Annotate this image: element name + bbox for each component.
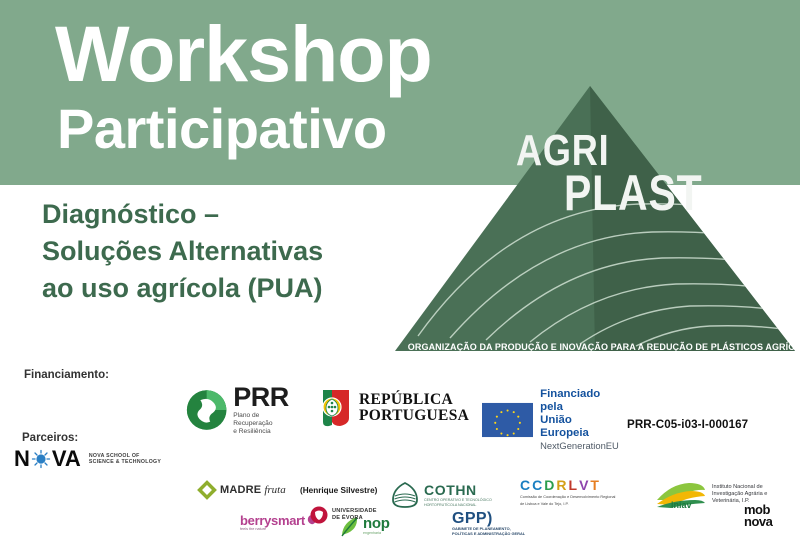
partner-logo-nova: N [14, 448, 161, 470]
portugal-shield-icon [320, 388, 352, 428]
cothn-sub-line-1: CENTRO OPERATIVO E TECNOLÓGICO [424, 498, 492, 502]
ccdr-letter: D [544, 478, 554, 493]
headline-line-2: Soluções Alternativas [42, 233, 422, 270]
ccdr-sub-line-1: Comissão de Coordenação e Desenvolviment… [520, 495, 615, 500]
ccdr-letter: V [579, 478, 588, 493]
headline-line-1: Diagnóstico – [42, 196, 422, 233]
logo-text-plast: PLAST [564, 168, 703, 218]
cothn-sub-line-2: HORTOFRUTÍCOLA NACIONAL [424, 503, 492, 507]
partner-logo-gpp: GPP) GABINETE DE PLANEAMENTO, POLÍTICAS … [452, 510, 525, 537]
partner-logo-cothn: COTHN CENTRO OPERATIVO E TECNOLÓGICO HOR… [390, 480, 492, 510]
iniav-sub-line-2: Investigação Agrária e [712, 491, 767, 498]
prr-name: PRR [233, 384, 293, 410]
headline-block: Diagnóstico – Soluções Alternativas ao u… [42, 196, 422, 307]
logo-tagline: ORGANIZAÇÃO DA PRODUÇÃO E INOVAÇÃO PARA … [408, 341, 782, 352]
evora-crest-icon [310, 506, 328, 524]
madre-name-italic: fruta [264, 484, 285, 496]
madre-diamond-icon [197, 480, 217, 500]
iniav-sub-line-1: Instituto Nacional de [712, 484, 767, 491]
page-title: Workshop [55, 14, 432, 93]
evora-line-1: UNIVERSIDADE [332, 508, 377, 515]
page-subtitle: Participativo [57, 101, 387, 157]
ccdr-letter: C [520, 478, 530, 493]
partner-logo-ccdr-lvt: CCDRLVT Comissão de Coordenação e Desenv… [520, 478, 615, 506]
prr-logo: PRR Plano de Recuperação e Resiliência [186, 384, 294, 436]
poster-root: Workshop Participativo Diagnóstico – Sol… [0, 0, 800, 544]
partner-logo-universidade-evora: UNIVERSIDADE DE ÉVORA [310, 506, 377, 524]
eu-flag-icon [482, 402, 533, 438]
svg-text:iniav: iniav [671, 500, 692, 510]
cothn-basket-icon [390, 480, 420, 510]
eu-line-1: Financiado pela [540, 388, 622, 414]
iniav-field-icon: iniav [655, 478, 707, 510]
ccdr-letters: CCDRLVT [520, 478, 615, 493]
project-code: PRR-C05-i03-I-000167 [627, 418, 748, 431]
ccdr-letter: C [532, 478, 542, 493]
madre-name-bold: MADRE [220, 484, 261, 496]
ccdr-letter: R [556, 478, 566, 493]
mob-line-2: nova [744, 516, 772, 528]
evora-line-2: DE ÉVORA [332, 515, 377, 522]
partner-logo-henrique-silvestre: (Henrique Silvestre) [300, 486, 377, 495]
republica-line-1: REPÚBLICA [359, 392, 469, 409]
prr-mark-icon [186, 387, 227, 433]
prr-desc-line-1: Plano de Recuperação [233, 412, 293, 428]
cothn-name: COTHN [424, 483, 492, 498]
gpp-name: GPP [452, 510, 487, 527]
republica-line-2: PORTUGUESA [359, 408, 469, 425]
ccdr-sub-line-2: de Lisboa e Vale do Tejo, I.P. [520, 502, 615, 507]
partner-logo-madrefruta: MADRE fruta [197, 480, 286, 500]
partner-logo-mob-nova: mob nova [744, 504, 772, 528]
republica-portuguesa-logo: REPÚBLICA PORTUGUESA [320, 388, 469, 428]
financing-label: Financiamento: [24, 369, 109, 381]
eu-line-2: União Europeia [540, 414, 622, 440]
nova-burst-icon [31, 449, 51, 469]
ccdr-letter: T [590, 478, 599, 493]
nova-sub-line-2: SCIENCE & TECHNOLOGY [89, 459, 161, 465]
partner-logo-berrysmart: berrysmart feels the nature [240, 514, 318, 532]
partner-logos-row: N [0, 440, 800, 544]
prr-desc-line-2: e Resiliência [233, 428, 293, 436]
headline-line-3: ao uso agrícola (PUA) [42, 270, 422, 307]
ccdr-letter: L [569, 478, 578, 493]
berrysmart-name: berrysmart [240, 514, 305, 527]
gpp-sub-line-2: POLÍTICAS E ADMINISTRAÇÃO GERAL [452, 532, 525, 537]
